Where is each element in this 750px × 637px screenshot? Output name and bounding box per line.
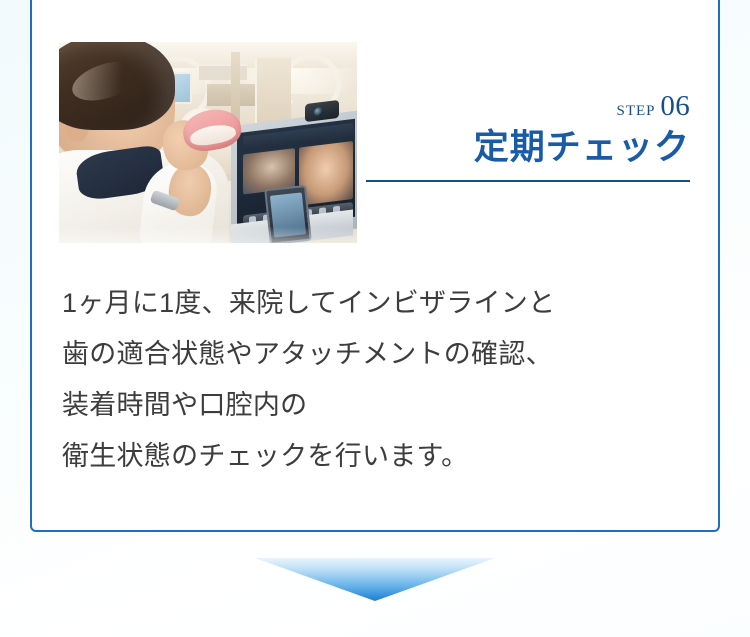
step-photo (59, 42, 357, 243)
step-label-number: 06 (660, 90, 690, 122)
photo-scene (59, 42, 357, 243)
step-title: 定期チェック (360, 127, 690, 169)
step-heading: Step06 定期チェック (360, 92, 690, 182)
step-description: 1ヶ月に1度、来院してインビザラインと 歯の適合状態やアタッチメントの確認、 装… (62, 278, 688, 482)
next-step-arrow-icon (255, 558, 495, 601)
description-line-2: 歯の適合状態やアタッチメントの確認、 (62, 329, 688, 380)
description-line-3: 装着時間や口腔内の (62, 380, 688, 431)
step-card: Step06 定期チェック 1ヶ月に1度、来院してインビザラインと 歯の適合状態… (30, 0, 720, 532)
card-header: Step06 定期チェック (32, 0, 718, 250)
description-line-1: 1ヶ月に1度、来院してインビザラインと (62, 278, 688, 329)
step-label: Step06 (360, 92, 690, 121)
description-line-4: 衛生状態のチェックを行います。 (62, 431, 688, 482)
step-title-divider (366, 180, 690, 182)
dentist-hair (59, 42, 175, 130)
step-label-word: Step (617, 96, 656, 120)
photo-bottom-fade (59, 227, 357, 243)
